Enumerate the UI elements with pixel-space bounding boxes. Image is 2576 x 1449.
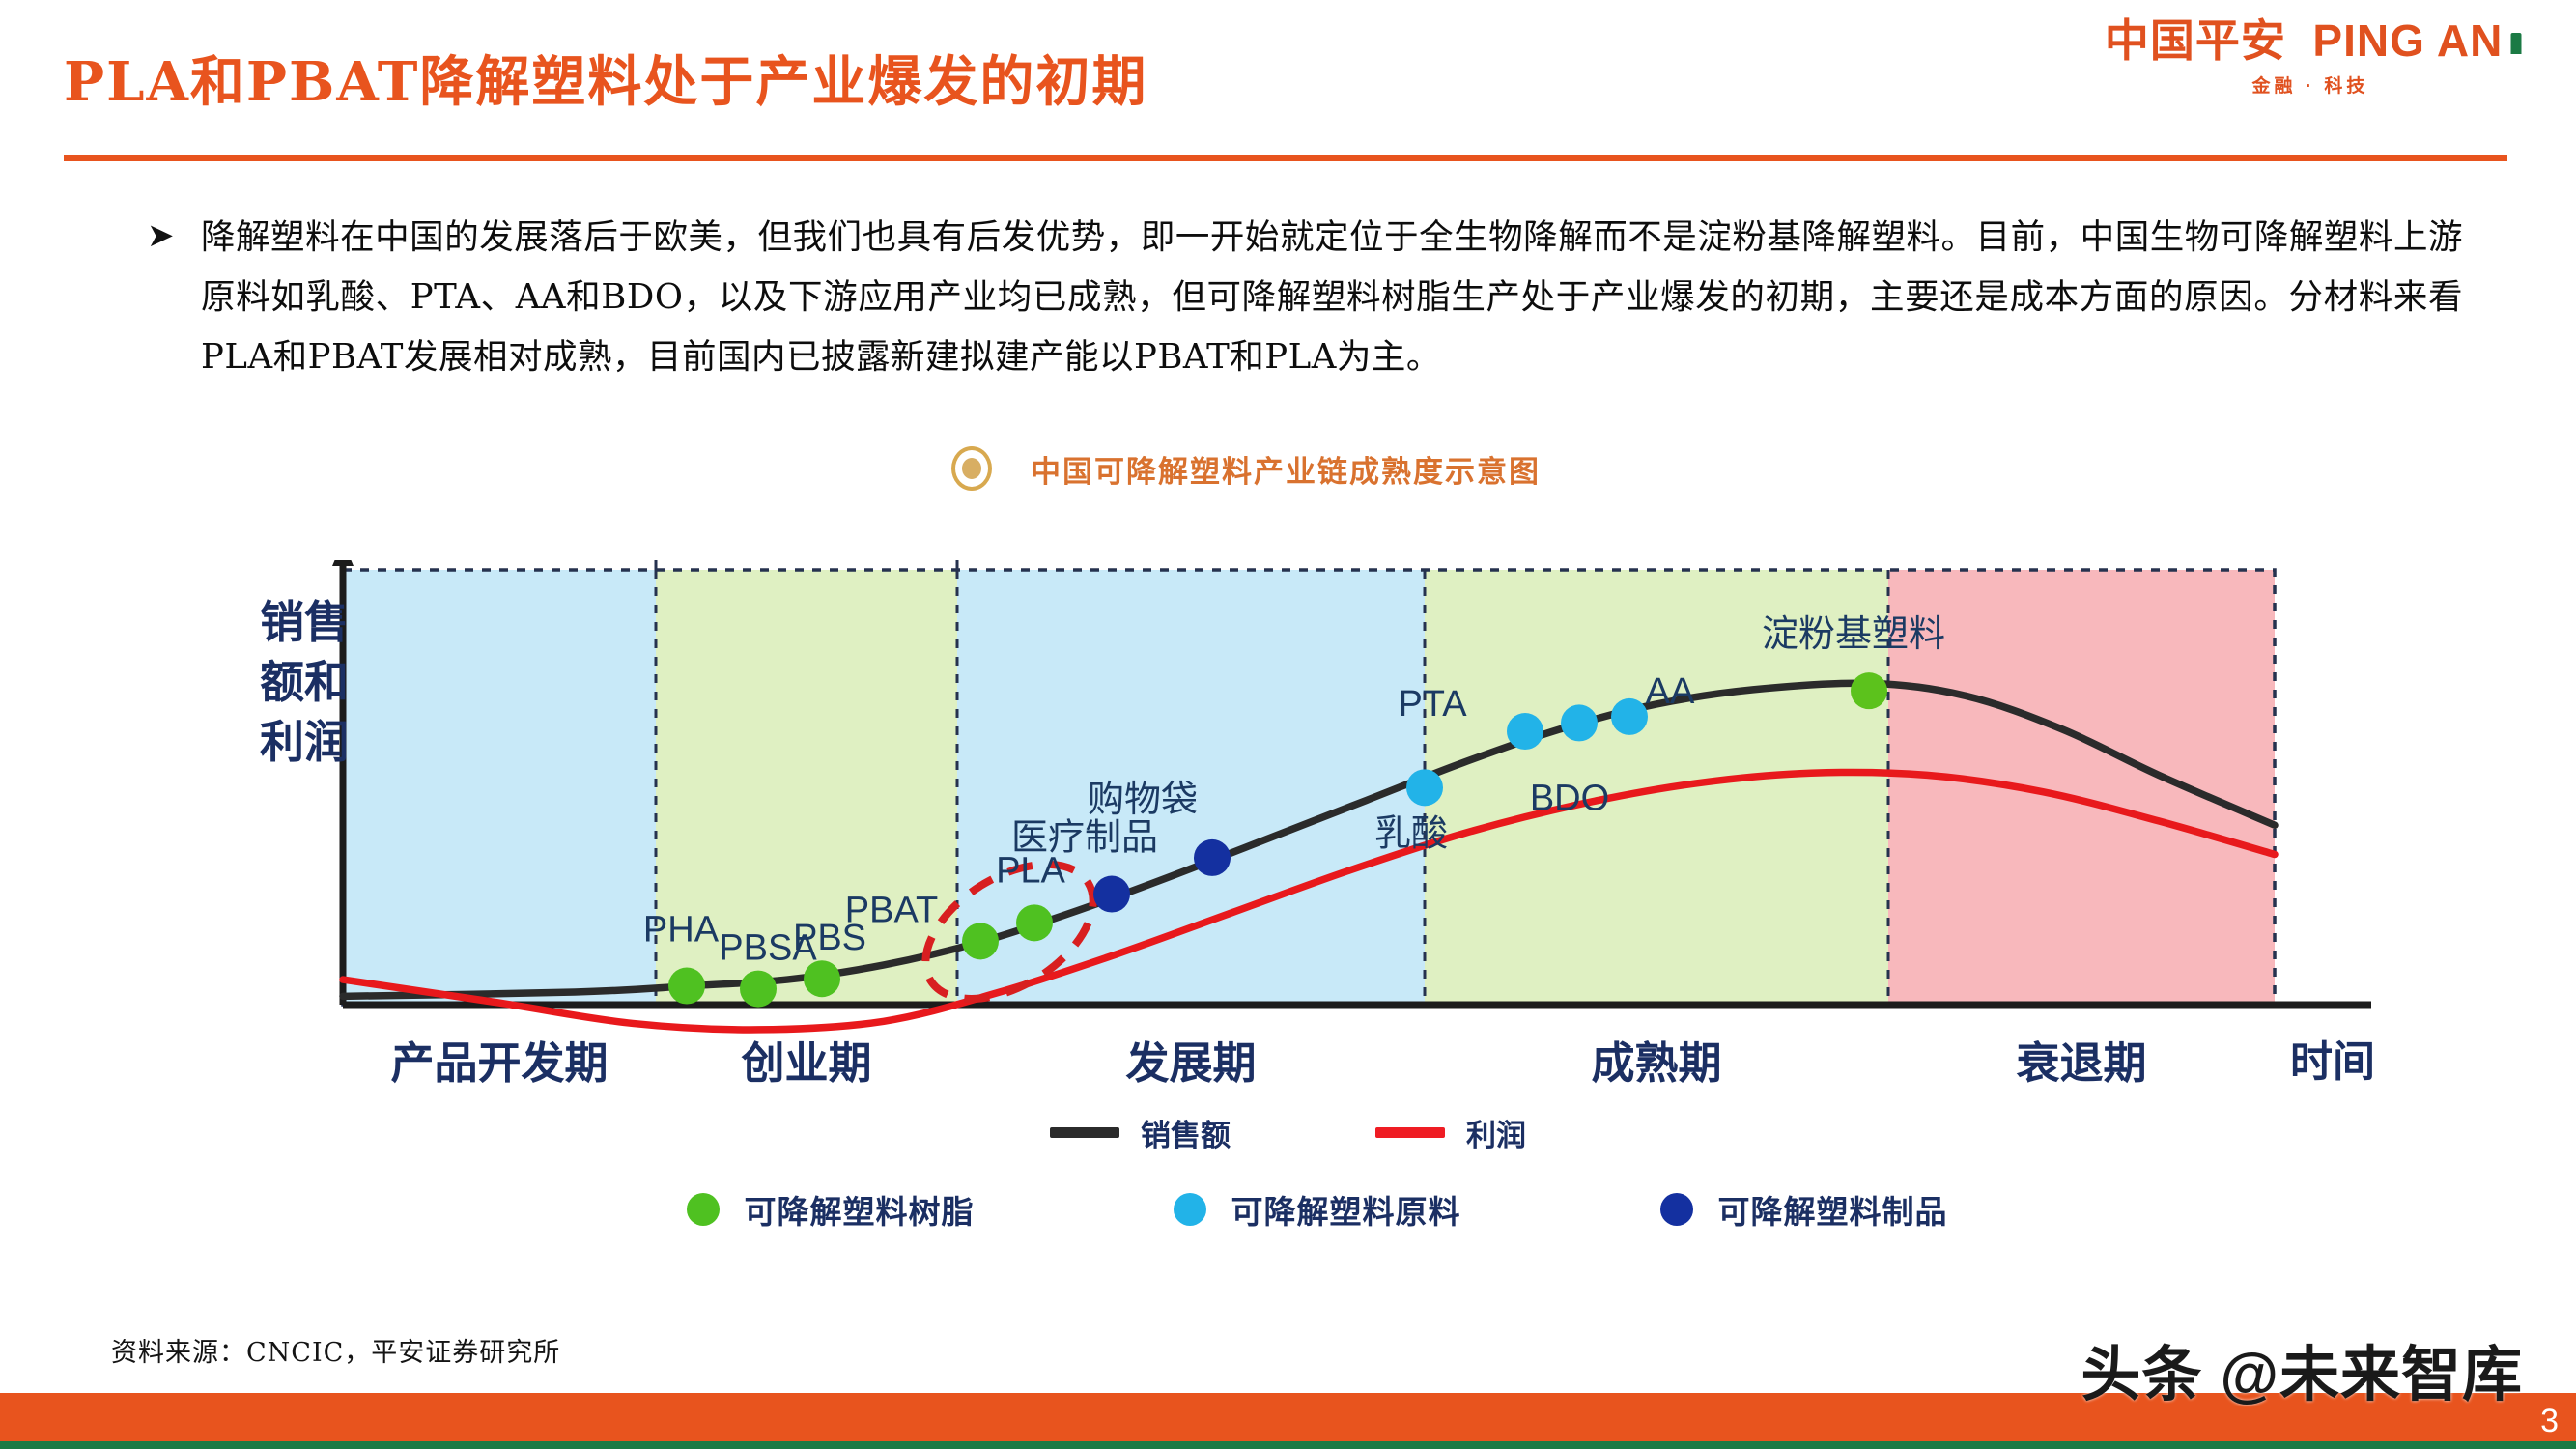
stage-labels: 产品开发期创业期发展期成熟期衰退期时间: [390, 1038, 2375, 1088]
y-axis-label-line: 额和: [260, 657, 349, 707]
x-axis-label: 时间: [2290, 1038, 2375, 1086]
data-point-PBSA: [740, 971, 777, 1008]
stage-label-3: 成熟期: [1591, 1038, 1721, 1088]
data-point-PLA: [1016, 904, 1053, 941]
legend-dot-swatch: [1174, 1193, 1206, 1226]
data-point-乳酸: [1406, 769, 1443, 806]
point-label-PTA: PTA: [1398, 684, 1467, 724]
y-axis-label: 销售额和利润: [260, 597, 349, 767]
point-label-BDO: BDO: [1530, 778, 1609, 818]
y-axis-label-line: 销售: [260, 597, 349, 647]
data-point-PHA: [668, 968, 705, 1005]
logo-tagline: 金融 · 科技: [2083, 71, 2537, 98]
legend-item-可降解塑料树脂: 可降解塑料树脂: [687, 1186, 975, 1233]
chart-title: 中国可降解塑料产业链成熟度示意图: [1031, 447, 1541, 491]
stage-label-0: 产品开发期: [390, 1038, 608, 1088]
stage-band-4: [1888, 570, 2275, 1005]
page-number: 3: [2540, 1403, 2559, 1440]
industry-maturity-chart: PHAPBSAPBSPBATPLA医疗制品购物袋乳酸PTABDOAA淀粉基塑料 …: [0, 560, 2576, 1179]
data-point-淀粉基塑料: [1851, 672, 1887, 709]
slide-header: PLA和PBAT降解塑料处于产业爆发的初期 中国平安 PING AN 金融 · …: [0, 0, 2576, 169]
legend-item-可降解塑料制品: 可降解塑料制品: [1660, 1186, 1948, 1233]
dot-legend: 可降解塑料树脂可降解塑料原料可降解塑料制品: [0, 1186, 2576, 1233]
data-point-医疗制品: [1093, 876, 1130, 913]
point-label-PHA: PHA: [643, 910, 720, 951]
source-note: 资料来源：CNCIC，平安证券研究所: [111, 1331, 560, 1369]
footer-accent-strip: [0, 1441, 2576, 1449]
legend-label: 可降解塑料制品: [1718, 1186, 1948, 1233]
line-legend: 销售额利润: [0, 1111, 2576, 1154]
data-point-购物袋: [1194, 839, 1231, 876]
stage-label-4: 衰退期: [2016, 1038, 2146, 1088]
legend-label: 利润: [1466, 1111, 1526, 1154]
logo-chinese-name: 中国平安: [2105, 15, 2286, 66]
legend-label: 可降解塑料树脂: [745, 1186, 975, 1233]
legend-item-利润: 利润: [1375, 1111, 1526, 1154]
logo-english-name: PING AN: [2312, 15, 2503, 66]
watermark: 头条 @未来智库: [2081, 1325, 2523, 1412]
page-title: PLA和PBAT降解塑料处于产业爆发的初期: [64, 39, 1147, 117]
body-block: ➤ 降解塑料在中国的发展落后于欧美，但我们也具有后发优势，即一开始就定位于全生物…: [126, 208, 2463, 387]
legend-label: 可降解塑料原料: [1231, 1186, 1461, 1233]
stage-label-2: 发展期: [1125, 1038, 1256, 1088]
legend-label: 销售额: [1141, 1111, 1231, 1154]
legend-item-可降解塑料原料: 可降解塑料原料: [1174, 1186, 1461, 1233]
stage-band-0: [343, 570, 656, 1005]
body-paragraph: 降解塑料在中国的发展落后于欧美，但我们也具有后发优势，即一开始就定位于全生物降解…: [201, 208, 2463, 387]
point-label-AA: AA: [1646, 671, 1695, 712]
data-point-PTA: [1507, 713, 1543, 750]
data-point-PBAT: [962, 923, 999, 959]
chart-heading: 中国可降解塑料产业链成熟度示意图: [951, 446, 1541, 491]
logo-wordmark: 中国平安 PING AN: [2083, 17, 2537, 64]
data-point-AA: [1611, 698, 1648, 735]
y-axis-label-line: 利润: [260, 717, 349, 767]
legend-dot-swatch: [687, 1193, 720, 1226]
title-divider: [64, 155, 2507, 161]
data-point-BDO: [1561, 704, 1598, 741]
point-label-医疗制品: 医疗制品: [1011, 818, 1158, 859]
point-label-淀粉基塑料: 淀粉基塑料: [1762, 614, 1945, 655]
legend-dot-swatch: [1660, 1193, 1693, 1226]
legend-line-swatch: [1375, 1127, 1445, 1138]
stage-bands: [343, 570, 2275, 1005]
target-circle-icon: [951, 446, 992, 491]
point-label-乳酸: 乳酸: [1374, 813, 1448, 854]
legend-line-swatch: [1050, 1127, 1119, 1138]
point-label-PBAT: PBAT: [845, 890, 938, 930]
stage-label-1: 创业期: [740, 1038, 871, 1088]
pingan-logo: 中国平安 PING AN 金融 · 科技: [2083, 17, 2537, 98]
chevron-right-bullet-icon: ➤: [147, 219, 176, 252]
chart-canvas: PHAPBSAPBSPBATPLA医疗制品购物袋乳酸PTABDOAA淀粉基塑料 …: [0, 560, 2576, 1179]
point-label-购物袋: 购物袋: [1088, 780, 1198, 820]
legend-item-销售额: 销售额: [1050, 1111, 1231, 1154]
